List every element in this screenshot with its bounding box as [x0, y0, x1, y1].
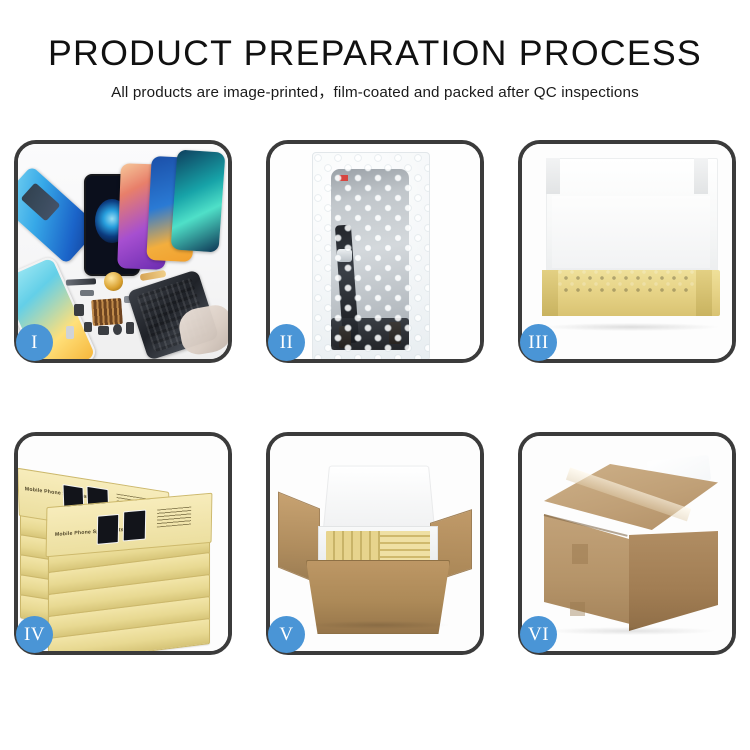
step-badge-1: I [16, 324, 53, 361]
step-5-image [270, 436, 480, 651]
foam-lid-flap-left [546, 158, 560, 194]
foam-lid-flap-right [694, 158, 708, 194]
page-subtitle: All products are image-printed，film-coat… [0, 83, 750, 102]
step-badge-3: III [520, 324, 557, 361]
box-art-screen-front-2 [123, 509, 147, 541]
small-part-6 [66, 326, 74, 339]
process-step-panel-2[interactable]: II [266, 140, 484, 363]
header: PRODUCT PREPARATION PROCESS All products… [0, 34, 750, 102]
step-2-image [270, 144, 480, 359]
box-stack: Mobile Phone Spare Parts Mobile Phone Sp… [18, 436, 228, 651]
tray-side-right [696, 270, 712, 316]
tray-side-left [542, 270, 558, 316]
process-step-grid: I II [14, 140, 736, 655]
step-4-image: Mobile Phone Spare Parts Mobile Phone Sp… [18, 436, 228, 651]
product-preparation-infographic: PRODUCT PREPARATION PROCESS All products… [0, 0, 750, 750]
carton-tab-upper [572, 544, 588, 564]
small-part-1 [74, 304, 84, 316]
bubble-texture [313, 153, 429, 359]
drop-shadow [544, 323, 718, 331]
foam-box-lid-open [323, 466, 436, 533]
page-title: PRODUCT PREPARATION PROCESS [0, 34, 750, 74]
step-badge-5: V [268, 616, 305, 653]
small-part-4 [113, 324, 122, 335]
packed-yellow-boxes-2 [380, 531, 430, 563]
carton-tab-lower [570, 602, 585, 616]
drop-shadow [548, 627, 714, 635]
vibration-motor-part [104, 272, 123, 291]
process-step-panel-3[interactable]: III [518, 140, 736, 363]
process-step-panel-1[interactable]: I [14, 140, 232, 363]
process-step-panel-6[interactable]: VI [518, 432, 736, 655]
small-part-2 [84, 322, 92, 332]
bubble-wrapped-item [556, 268, 704, 294]
step-badge-4: IV [16, 616, 53, 653]
small-part-3 [98, 326, 109, 335]
logic-board-chip [91, 298, 123, 326]
step-1-image [18, 144, 228, 359]
box-art-screen-front-1 [97, 514, 120, 545]
process-step-panel-4[interactable]: Mobile Phone Spare Parts Mobile Phone Sp… [14, 432, 232, 655]
step-6-image [522, 436, 732, 651]
process-step-panel-5[interactable]: V [266, 432, 484, 655]
foam-sheet [552, 196, 710, 268]
small-part-5 [126, 322, 134, 334]
step-badge-6: VI [520, 616, 557, 653]
drop-shadow [310, 621, 448, 629]
teal-wave-phone [171, 149, 226, 252]
step-badge-2: II [268, 324, 305, 361]
small-part-8 [80, 290, 94, 296]
bubble-wrap-bag [312, 152, 430, 359]
step-3-image [522, 144, 732, 359]
box-spec-text-front [157, 507, 191, 528]
